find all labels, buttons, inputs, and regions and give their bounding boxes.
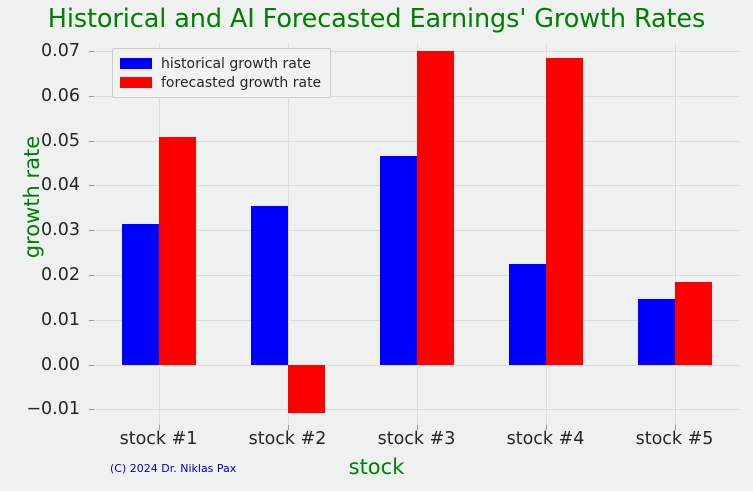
x-tick-label: stock #3 bbox=[342, 429, 492, 449]
copyright-annotation: (C) 2024 Dr. Niklas Pax bbox=[110, 462, 236, 475]
bar-historical-4 bbox=[509, 264, 546, 364]
legend-swatch-forecasted-icon bbox=[120, 77, 152, 88]
bar-forecasted-2 bbox=[288, 365, 325, 413]
legend-label-historical: historical growth rate bbox=[161, 56, 311, 72]
legend-item-forecasted: forecasted growth rate bbox=[120, 73, 321, 92]
y-tick-label: 0.06 bbox=[0, 86, 80, 106]
legend-item-historical: historical growth rate bbox=[120, 54, 321, 73]
y-tick-label: 0.03 bbox=[0, 220, 80, 240]
chart-legend: historical growth rate forecasted growth… bbox=[112, 48, 331, 98]
y-axis-tick-labels: 0.070.060.050.040.030.020.010.00−0.01 bbox=[0, 43, 86, 425]
y-tick-label: 0.07 bbox=[0, 41, 80, 61]
legend-swatch-historical-icon bbox=[120, 58, 152, 69]
y-tick-label: 0.05 bbox=[0, 131, 80, 151]
bar-forecasted-5 bbox=[675, 282, 712, 365]
y-tick-label: 0.00 bbox=[0, 355, 80, 375]
bar-historical-1 bbox=[122, 224, 159, 365]
y-tick-label: 0.04 bbox=[0, 175, 80, 195]
x-tick-label: stock #2 bbox=[213, 429, 363, 449]
bar-forecasted-1 bbox=[159, 137, 196, 364]
chart-figure: Historical and AI Forecasted Earnings' G… bbox=[0, 0, 753, 491]
x-tick-label: stock #4 bbox=[471, 429, 621, 449]
plot-area bbox=[94, 43, 739, 425]
y-tick-label: 0.01 bbox=[0, 310, 80, 330]
x-tick-label: stock #1 bbox=[84, 429, 234, 449]
y-tick-label: −0.01 bbox=[0, 399, 80, 419]
bar-forecasted-3 bbox=[417, 51, 454, 364]
gridline bbox=[675, 43, 676, 425]
y-tick-label: 0.02 bbox=[0, 265, 80, 285]
bar-historical-5 bbox=[638, 299, 675, 364]
chart-title: Historical and AI Forecasted Earnings' G… bbox=[0, 4, 753, 34]
bar-historical-3 bbox=[380, 156, 417, 364]
bar-historical-2 bbox=[251, 206, 288, 364]
bar-forecasted-4 bbox=[546, 58, 583, 365]
legend-label-forecasted: forecasted growth rate bbox=[161, 75, 321, 91]
x-tick-label: stock #5 bbox=[600, 429, 750, 449]
